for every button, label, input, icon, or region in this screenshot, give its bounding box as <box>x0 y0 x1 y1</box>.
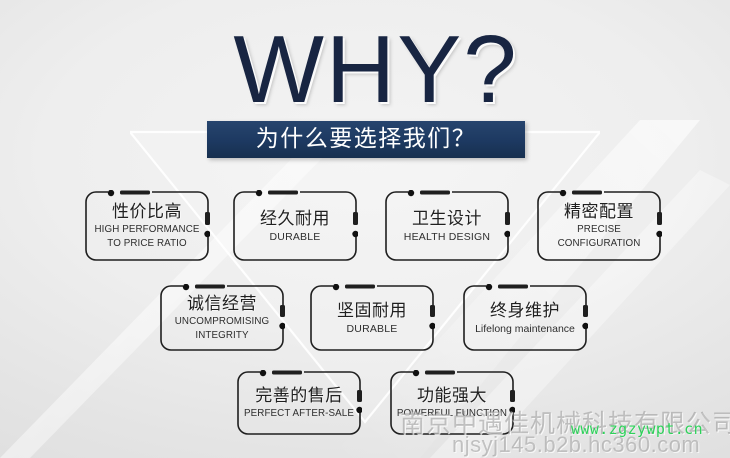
feature-title-cn: 功能强大 <box>417 386 487 406</box>
feature-box-content: 精密配置 PRECISE CONFIGURATION <box>536 190 662 262</box>
feature-box-content: 性价比高 HIGH PERFORMANCE TO PRICE RATIO <box>84 190 210 262</box>
feature-box-durable-1[interactable]: 经久耐用 DURABLE <box>232 190 358 262</box>
feature-title-en-line1: UNCOMPROMISING <box>175 316 269 328</box>
subtitle-banner: 为什么要选择我们？ <box>207 121 525 158</box>
page-title: WHY? <box>233 22 518 118</box>
feature-box-precise-configuration[interactable]: 精密配置 PRECISE CONFIGURATION <box>536 190 662 262</box>
feature-box-content: 完善的售后 PERFECT AFTER-SALE <box>236 370 362 436</box>
feature-title-cn: 卫生设计 <box>412 209 482 229</box>
headline-block: WHY? <box>0 22 730 118</box>
feature-box-content: 卫生设计 HEALTH DESIGN <box>384 190 510 262</box>
feature-box-lifelong-maintenance[interactable]: 终身维护 Lifelong maintenance <box>462 284 588 352</box>
feature-box-health-design[interactable]: 卫生设计 HEALTH DESIGN <box>384 190 510 262</box>
feature-title-cn: 坚固耐用 <box>337 301 407 321</box>
slide-canvas: WHY? 为什么要选择我们？ 性价比高 HIGH PERFORMANCE TO … <box>0 0 730 458</box>
feature-title-en-line1: PRECISE <box>577 224 621 236</box>
feature-title-en-line2: TO PRICE RATIO <box>107 238 186 250</box>
feature-box-content: 终身维护 Lifelong maintenance <box>462 284 588 352</box>
feature-title-cn: 经久耐用 <box>260 209 330 229</box>
feature-title-en-line1: DURABLE <box>270 231 321 243</box>
feature-box-content: 功能强大 POWERFUL FUNCTION <box>389 370 515 436</box>
feature-box-uncompromising-integrity[interactable]: 诚信经营 UNCOMPROMISING INTEGRITY <box>159 284 285 352</box>
feature-box-powerful-function[interactable]: 功能强大 POWERFUL FUNCTION <box>389 370 515 436</box>
background-triangle-outline <box>130 126 600 426</box>
feature-box-durable-2[interactable]: 坚固耐用 DURABLE <box>309 284 435 352</box>
feature-title-en-line1: HIGH PERFORMANCE <box>94 224 199 236</box>
feature-title-cn: 终身维护 <box>490 301 560 321</box>
feature-title-en-line2: CONFIGURATION <box>558 238 641 250</box>
feature-box-perfect-after-sale[interactable]: 完善的售后 PERFECT AFTER-SALE <box>236 370 362 436</box>
feature-title-cn: 诚信经营 <box>187 294 257 314</box>
feature-title-en-line2: INTEGRITY <box>195 330 248 342</box>
feature-box-content: 诚信经营 UNCOMPROMISING INTEGRITY <box>159 284 285 352</box>
feature-box-high-performance-to-price-ratio[interactable]: 性价比高 HIGH PERFORMANCE TO PRICE RATIO <box>84 190 210 262</box>
feature-title-cn: 精密配置 <box>564 202 634 222</box>
feature-title-cn: 性价比高 <box>112 202 182 222</box>
feature-box-content: 坚固耐用 DURABLE <box>309 284 435 352</box>
feature-title-en-line1: HEALTH DESIGN <box>404 231 490 243</box>
feature-title-en-line1: PERFECT AFTER-SALE <box>244 408 354 420</box>
feature-title-cn: 完善的售后 <box>255 386 343 406</box>
subtitle-text: 为什么要选择我们？ <box>256 128 477 151</box>
feature-box-content: 经久耐用 DURABLE <box>232 190 358 262</box>
feature-title-en-line1: DURABLE <box>347 323 398 335</box>
feature-title-en-line1: Lifelong maintenance <box>475 323 575 335</box>
feature-title-en-line1: POWERFUL FUNCTION <box>397 408 507 420</box>
watermark-site-url: www.zgzywpt.cn <box>571 420 703 438</box>
